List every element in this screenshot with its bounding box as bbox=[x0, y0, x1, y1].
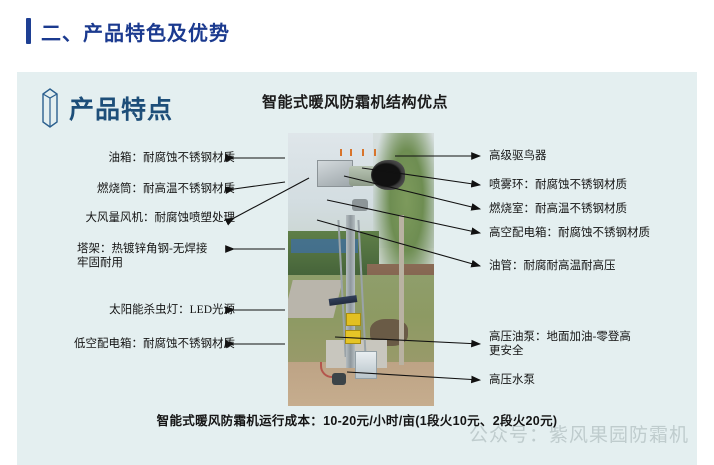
machine-control-box-lower bbox=[345, 330, 361, 344]
callout-right-spray-ring: 喷雾环：耐腐蚀不锈钢材质 bbox=[489, 178, 694, 192]
machine-fuel-tank bbox=[317, 160, 353, 187]
callout-left-tower: 塔架：热镀锌角钢-无焊接 牢固耐用 bbox=[69, 242, 243, 270]
diagram-title: 智能式暖风防霜机结构优点 bbox=[262, 91, 448, 112]
feature-badge-label: 产品特点 bbox=[69, 90, 173, 126]
machine-bird-repeller bbox=[338, 149, 384, 157]
callout-left-oil-tank: 油箱：耐腐蚀不锈钢材质 bbox=[95, 151, 235, 165]
callout-left-low-power-box: 低空配电箱：耐腐蚀不锈钢材质 bbox=[49, 337, 235, 351]
machine-photo bbox=[288, 133, 434, 406]
photo-tree-trunk bbox=[399, 215, 404, 365]
page-title: 二、产品特色及优势 bbox=[41, 17, 230, 46]
callout-right-combustion: 燃烧室：耐高温不锈钢材质 bbox=[489, 202, 694, 216]
machine-control-box-upper bbox=[346, 313, 361, 326]
callout-right-high-power-box: 高空配电箱：耐腐蚀不锈钢材质 bbox=[489, 226, 694, 240]
callout-right-bird-repeller: 高级驱鸟器 bbox=[489, 149, 689, 163]
callout-left-solar-lamp: 太阳能杀虫灯：LED光源 bbox=[95, 303, 235, 317]
cost-caption: 智能式暖风防霜机运行成本：10-20元/小时/亩(1段火10元、2段火20元) bbox=[17, 410, 697, 429]
machine-fan bbox=[371, 160, 405, 190]
callout-right-oil-pipe: 油管：耐腐耐高温耐高压 bbox=[489, 259, 694, 273]
arrow-left-2 bbox=[234, 182, 285, 189]
callout-left-burner-tube: 燃烧筒：耐高温不锈钢材质 bbox=[81, 182, 235, 196]
prism-icon bbox=[39, 86, 61, 130]
product-features-card: 产品特点 智能式暖风防霜机结构优点 bbox=[17, 72, 697, 465]
section-heading: 二、产品特色及优势 bbox=[26, 16, 230, 46]
machine-oil-pump bbox=[355, 351, 377, 379]
callout-right-oil-pump: 高压油泵：地面加油-零登高 更安全 bbox=[489, 330, 694, 358]
callout-right-water-pump: 高压水泵 bbox=[489, 373, 694, 387]
callout-left-fan: 大风量风机：耐腐蚀喷塑处理 bbox=[61, 211, 235, 225]
machine-tower bbox=[346, 215, 355, 368]
machine-elbow bbox=[352, 199, 368, 211]
heading-accent-bar bbox=[26, 18, 31, 44]
feature-badge: 产品特点 bbox=[39, 86, 173, 130]
machine-water-pump bbox=[332, 373, 346, 385]
card-header: 产品特点 智能式暖风防霜机结构优点 bbox=[17, 72, 697, 134]
